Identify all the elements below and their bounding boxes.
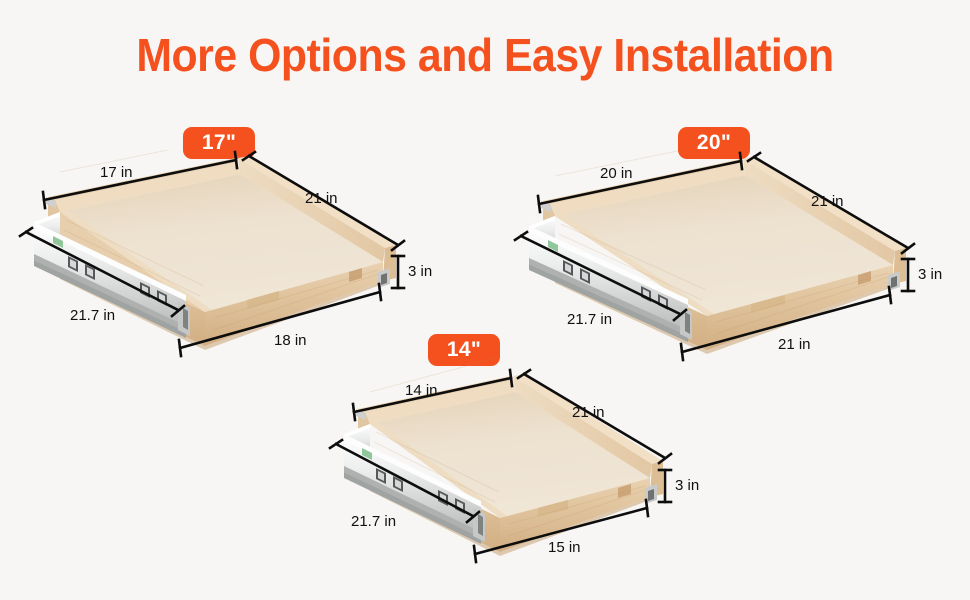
dim-17-top-width: 17 in — [100, 164, 133, 181]
dim-20-top-depth: 21 in — [811, 193, 844, 210]
dim-17-side-depth: 21.7 in — [70, 307, 115, 324]
dim-17-bottom-width: 18 in — [274, 332, 307, 349]
dim-20-bottom-width: 21 in — [778, 336, 811, 353]
dim-17-height: 3 in — [408, 263, 432, 280]
dim-20-side-depth: 21.7 in — [567, 311, 612, 328]
dim-20-top-width: 20 in — [600, 165, 633, 182]
drawer-14: 14 in 21 in 21.7 in 15 in 3 in — [300, 358, 720, 600]
dim-14-height: 3 in — [675, 477, 699, 494]
infographic-canvas: More Options and Easy Installation 17" — [0, 0, 970, 600]
page-title: More Options and Easy Installation — [34, 28, 936, 82]
dim-14-top-depth: 21 in — [572, 404, 605, 421]
dim-14-top-width: 14 in — [405, 382, 438, 399]
dim-17-top-depth: 21 in — [305, 190, 338, 207]
dim-14-bottom-width: 15 in — [548, 539, 581, 556]
dim-20-height: 3 in — [918, 266, 942, 283]
dim-14-side-depth: 21.7 in — [351, 513, 396, 530]
drawer-14-illustration — [300, 358, 720, 600]
